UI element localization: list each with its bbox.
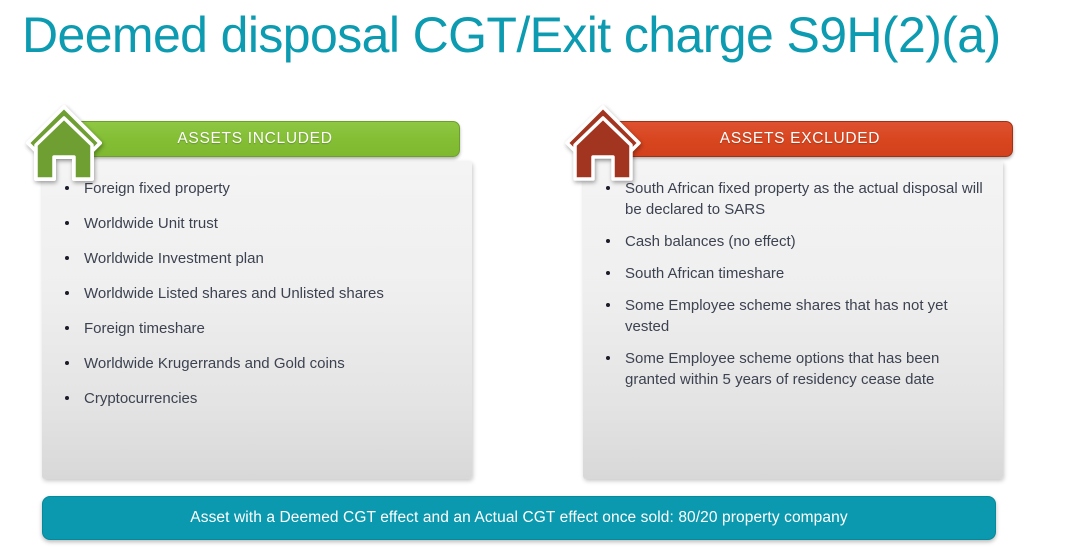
list-item: Worldwide Investment plan (62, 248, 456, 269)
assets-excluded-list: South African fixed property as the actu… (603, 178, 987, 390)
list-item: Cash balances (no effect) (603, 231, 987, 252)
list-item-label: Some Employee scheme options that has be… (625, 350, 939, 388)
bullet-dot-icon (65, 326, 69, 330)
assets-included-header-label: ASSETS INCLUDED (177, 130, 332, 148)
house-icon (24, 103, 104, 189)
bullet-dot-icon (65, 396, 69, 400)
bullet-dot-icon (65, 256, 69, 260)
list-item-label: Worldwide Listed shares and Unlisted sha… (84, 285, 384, 302)
list-item: Some Employee scheme shares that has not… (603, 295, 987, 337)
list-item: Worldwide Unit trust (62, 213, 456, 234)
bullet-dot-icon (606, 303, 610, 307)
assets-excluded-panel: South African fixed property as the actu… (583, 161, 1003, 479)
list-item: Foreign timeshare (62, 318, 456, 339)
assets-excluded-header-label: ASSETS EXCLUDED (720, 130, 880, 148)
footer-callout-label: Asset with a Deemed CGT effect and an Ac… (190, 509, 847, 527)
list-item: Worldwide Krugerrands and Gold coins (62, 353, 456, 374)
bullet-dot-icon (606, 271, 610, 275)
list-item: Foreign fixed property (62, 178, 456, 199)
assets-included-list: Foreign fixed property Worldwide Unit tr… (62, 178, 456, 409)
list-item-label: South African fixed property as the actu… (625, 180, 983, 218)
assets-excluded-header: ASSETS EXCLUDED (587, 121, 1013, 157)
list-item-label: Worldwide Unit trust (84, 215, 218, 232)
bullet-dot-icon (606, 356, 610, 360)
bullet-dot-icon (65, 361, 69, 365)
list-item-label: Some Employee scheme shares that has not… (625, 297, 948, 335)
list-item-label: Worldwide Investment plan (84, 250, 264, 267)
list-item-label: Cash balances (no effect) (625, 233, 796, 250)
assets-included-panel: Foreign fixed property Worldwide Unit tr… (42, 161, 472, 479)
list-item-label: Foreign fixed property (84, 180, 230, 197)
list-item-label: Foreign timeshare (84, 320, 205, 337)
bullet-dot-icon (65, 291, 69, 295)
slide-canvas: Deemed disposal CGT/Exit charge S9H(2)(a… (0, 0, 1077, 553)
list-item-label: Cryptocurrencies (84, 390, 197, 407)
house-icon (563, 103, 643, 189)
bullet-dot-icon (606, 239, 610, 243)
list-item-label: Worldwide Krugerrands and Gold coins (84, 355, 345, 372)
list-item: South African timeshare (603, 263, 987, 284)
bullet-dot-icon (65, 221, 69, 225)
list-item: Worldwide Listed shares and Unlisted sha… (62, 283, 456, 304)
list-item: Some Employee scheme options that has be… (603, 348, 987, 390)
list-item-label: South African timeshare (625, 265, 784, 282)
footer-callout-bar: Asset with a Deemed CGT effect and an Ac… (42, 496, 996, 540)
page-title: Deemed disposal CGT/Exit charge S9H(2)(a… (22, 4, 1062, 67)
list-item: Cryptocurrencies (62, 388, 456, 409)
assets-included-header: ASSETS INCLUDED (50, 121, 460, 157)
list-item: South African fixed property as the actu… (603, 178, 987, 220)
